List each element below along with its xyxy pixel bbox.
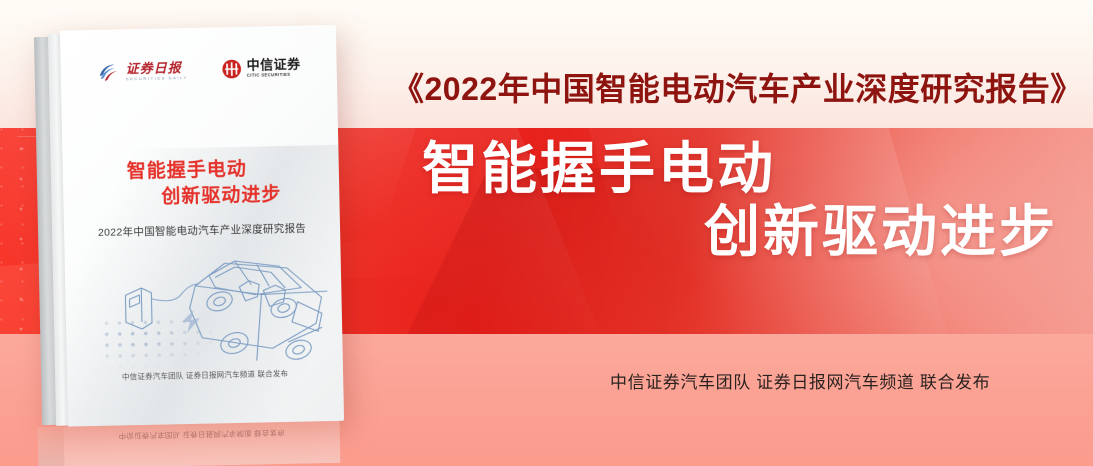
book-front-cover: 证券日报 SECURITIES DAILY [60, 25, 344, 427]
report-book-cover: 证券日报 SECURITIES DAILY [34, 25, 344, 429]
securities-daily-wordmark: 证券日报 SECURITIES DAILY [126, 60, 188, 80]
securities-daily-cn: 证券日报 [126, 60, 188, 74]
headline-line-1: 智能握手电动 [404, 138, 1064, 201]
citic-wordmark: 中信证券 CITIC SECURITIES [246, 58, 300, 78]
headline-line-2: 创新驱动进步 [404, 201, 1064, 264]
securities-daily-swirl-icon [96, 59, 120, 83]
cover-logo-row: 证券日报 SECURITIES DAILY [60, 47, 337, 93]
report-promo-banner: 《2022年中国智能电动汽车产业深度研究报告》 智能握手电动 创新驱动进步 中信… [0, 0, 1093, 466]
cover-headline: 智能握手电动 创新驱动进步 [63, 155, 340, 212]
report-title: 《2022年中国智能电动汽车产业深度研究报告》 [392, 64, 1082, 110]
citic-en: CITIC SECURITIES [247, 73, 301, 78]
reflection-footer-text: 中信证券汽车团队 证券日报网汽车频道 联合发布 [64, 426, 340, 443]
ev-car-charging-icon [110, 237, 337, 370]
reflection-spine [38, 427, 65, 466]
reflection-body: 中信证券汽车团队 证券日报网汽车频道 联合发布 [64, 421, 341, 466]
banner-headline: 智能握手电动 创新驱动进步 [404, 138, 1064, 263]
book-reflection: 中信证券汽车团队 证券日报网汽车频道 联合发布 [38, 421, 341, 466]
securities-daily-en: SECURITIES DAILY [126, 75, 188, 80]
citic-cn: 中信证券 [246, 58, 300, 72]
publisher-credit: 中信证券汽车团队 证券日报网汽车频道 联合发布 [610, 368, 990, 393]
citic-emblem-icon [221, 59, 241, 79]
citic-securities-logo: 中信证券 CITIC SECURITIES [221, 58, 300, 80]
securities-daily-logo: 证券日报 SECURITIES DAILY [96, 58, 187, 84]
